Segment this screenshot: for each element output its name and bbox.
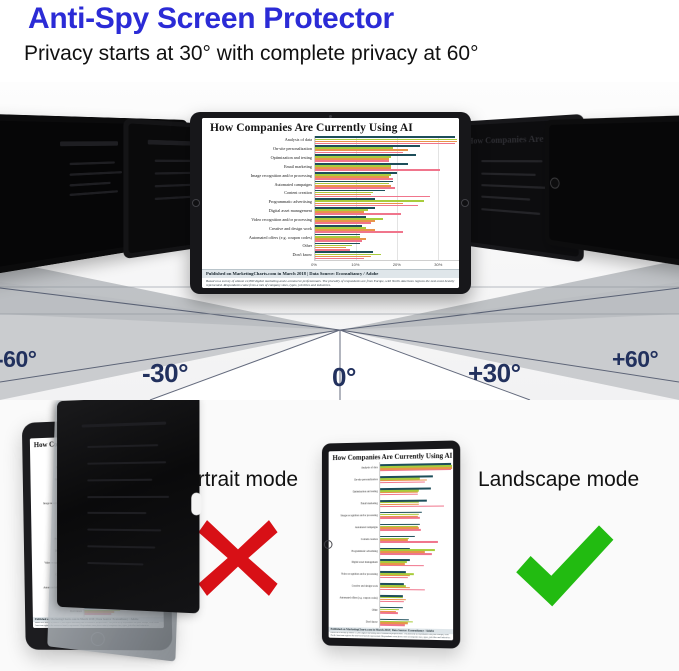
home-button-icon — [324, 540, 333, 549]
chart-plot-area: Analysis of dataOn-site personalizationO… — [202, 136, 459, 260]
mini-chart-category-label: Video recognition and/or processing — [329, 569, 380, 581]
chart-category-label: On-site personalization — [202, 145, 314, 154]
chart-category-label: Optimization and testing — [202, 154, 314, 163]
mini-chart-bar-group — [380, 497, 453, 510]
angle-label-minus-60: -60° — [0, 346, 36, 373]
mini-chart-bar — [380, 624, 405, 626]
chart-category-label: Don't know — [202, 251, 314, 260]
chart-bar-group — [315, 189, 459, 198]
mini-chart-bar-group — [380, 593, 453, 606]
chart-category-labels: Analysis of dataOn-site personalizationO… — [202, 136, 314, 260]
mini-chart-plot: Analysis of dataOn-site personalizationO… — [329, 461, 453, 630]
chart-bar-group — [315, 136, 459, 145]
mini-chart-category-label: Content creation — [329, 533, 380, 545]
chart-title: How Companies Are Currently Using AI — [202, 118, 459, 136]
angle-label-plus-30: +30° — [468, 358, 521, 389]
mini-chart-category-label: Image recognition and/or processing — [329, 510, 380, 522]
page-title: Anti-Spy Screen Protector — [28, 2, 394, 36]
landscape-mini-chart: How Companies Are Currently Using AI Ana… — [329, 449, 453, 641]
chart-category-label: Content creation — [202, 189, 314, 198]
chart-bar-group — [315, 251, 459, 260]
chart-bar-group — [315, 180, 459, 189]
mini-chart-category-label: Email marketing — [329, 498, 380, 510]
mini-chart-category-label: Automated campaigns — [329, 521, 380, 533]
chart-bar-group — [315, 198, 459, 207]
chart-category-label: Digital asset management — [202, 207, 314, 216]
landscape-tablet[interactable]: How Companies Are Currently Using AI Ana… — [322, 440, 460, 648]
mini-chart-bar — [380, 469, 451, 472]
chart-category-label: Other — [202, 242, 314, 251]
chart-x-tick-label: 10% — [351, 262, 359, 267]
mini-chart-bar-group — [380, 616, 453, 629]
chart-x-tick-label: 20% — [393, 262, 401, 267]
mini-chart-bars — [379, 461, 453, 630]
mini-chart-bar-group — [380, 521, 453, 533]
viewing-angle-scene: How Companies Are Currently Using AI How… — [0, 82, 679, 400]
mini-chart-bar — [380, 517, 419, 519]
mini-chart-bar-group — [380, 533, 453, 545]
mini-chart-category-label: Programmatic advertising — [329, 545, 380, 557]
film-ghost-content — [57, 400, 199, 401]
mini-chart-category-label: Digital asset management — [329, 557, 380, 569]
mini-chart-bar — [380, 529, 420, 531]
mini-chart-bar — [380, 612, 397, 614]
mini-chart-category-label: On-site personalization — [329, 474, 380, 487]
mini-chart-bar — [380, 493, 417, 495]
mini-chart-bar — [380, 505, 443, 507]
privacy-film-landscape[interactable] — [57, 400, 199, 613]
landscape-tablet-screen: How Companies Are Currently Using AI Ana… — [329, 449, 453, 641]
mini-chart-bar — [380, 600, 404, 602]
page-subtitle: Privacy starts at 30° with complete priv… — [24, 42, 478, 66]
mini-chart-bar-group — [380, 485, 453, 498]
tablet-zero[interactable]: How Companies Are Currently Using AI Ana… — [190, 112, 471, 294]
tablet-zero-screen: How Companies Are Currently Using AI Ana… — [202, 118, 459, 288]
chart-bar-group — [315, 154, 459, 163]
chart-bars — [314, 136, 459, 260]
chart-bar-group — [315, 242, 459, 251]
ai-usage-bar-chart: How Companies Are Currently Using AI Ana… — [202, 118, 459, 288]
chart-category-label: Image recognition and/or processing — [202, 171, 314, 180]
mini-chart-category-label: Other — [329, 604, 380, 617]
film-notch-icon — [191, 493, 201, 516]
chart-bar-group — [315, 207, 459, 216]
mini-chart-bar-group — [380, 473, 453, 486]
checkmark-icon — [508, 520, 618, 610]
chart-category-label: Automated campaigns — [202, 180, 314, 189]
cross-icon — [195, 515, 281, 601]
mini-chart-bar-group — [380, 509, 453, 521]
chart-category-label: Automated offers (e.g. coupon codes) — [202, 233, 314, 242]
mini-chart-bar — [380, 481, 425, 483]
mini-chart-bar — [380, 589, 425, 591]
chart-category-label: Email marketing — [202, 163, 314, 172]
mini-chart-bar-group — [380, 569, 453, 581]
chart-category-label: Creative and design work — [202, 224, 314, 233]
angle-label-zero: 0° — [332, 362, 356, 393]
mini-chart-bar — [380, 577, 408, 579]
header-banner: Anti-Spy Screen Protector Privacy starts… — [0, 0, 679, 82]
chart-x-tick-label: 30% — [434, 262, 442, 267]
chart-category-label: Analysis of data — [202, 136, 314, 145]
home-button-icon — [550, 177, 560, 189]
angle-label-minus-30: -30° — [142, 358, 188, 389]
mini-chart-bar-group — [380, 545, 453, 557]
mini-chart-category-label: Analysis of data — [329, 462, 380, 475]
chart-category-label: Programmatic advertising — [202, 198, 314, 207]
orientation-comparison-section: How Companies Are Currently Using AI Ana… — [0, 400, 679, 671]
home-button-icon — [192, 199, 200, 207]
mini-chart-bar-group — [380, 581, 453, 594]
chart-bar-group — [315, 145, 459, 154]
chart-category-label: Video recognition and/or processing — [202, 216, 314, 225]
mini-chart-bar — [380, 553, 432, 555]
mini-chart-bar — [380, 541, 438, 543]
home-button-icon — [461, 199, 469, 207]
chart-source-line: Published on MarketingCharts.com in Marc… — [202, 269, 459, 278]
chart-bar-group — [315, 163, 459, 172]
chart-bar — [315, 258, 364, 260]
chart-fine-print: Based on a survey of almost 12,800 digit… — [202, 278, 459, 288]
chart-bar-group — [315, 216, 459, 225]
mini-chart-fine-print: Based on a survey of almost 12,800 digit… — [329, 632, 453, 640]
mini-chart-category-label: Optimization and testing — [329, 486, 380, 498]
mini-chart-bar — [380, 565, 423, 567]
mini-chart-category-label: Creative and design work — [329, 580, 380, 592]
chart-x-tick-label: 0% — [311, 262, 317, 267]
mini-chart-category-label: Automated offers (e.g. coupon codes) — [329, 592, 380, 604]
chart-bar-group — [315, 171, 459, 180]
mini-chart-categories: Analysis of dataOn-site personalizationO… — [329, 462, 380, 628]
chart-x-axis: 0%10%20%30% — [314, 260, 459, 269]
mini-chart-bar-group — [380, 557, 453, 569]
landscape-mode-label: Landscape mode — [478, 468, 639, 492]
chart-bar-group — [315, 233, 459, 242]
mini-chart-category-label: Don't know — [329, 615, 380, 628]
chart-bar-group — [315, 224, 459, 233]
angle-label-plus-60: +60° — [612, 346, 658, 373]
